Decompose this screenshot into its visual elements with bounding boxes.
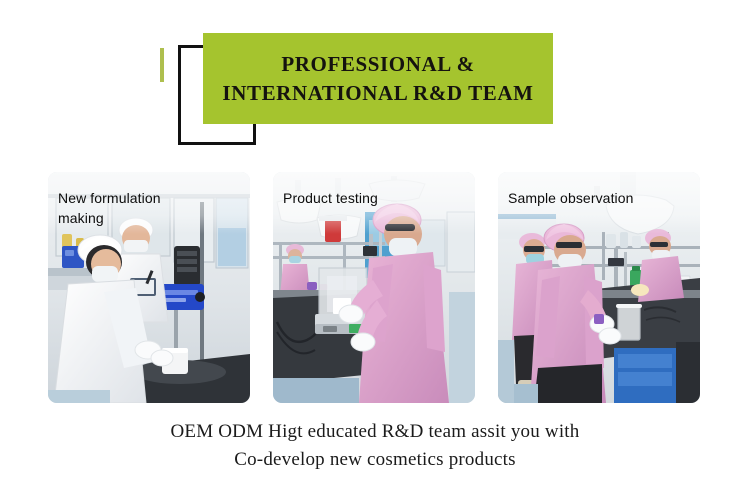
footer-caption: OEM ODM Higt educated R&D team assit you… [0, 418, 750, 474]
banner-header: PROFESSIONAL & INTERNATIONAL R&D TEAM [0, 0, 750, 160]
photo-panel-row: New formulation making [48, 172, 700, 403]
panel-label-line-1: New formulation [58, 188, 244, 208]
panel-label-line-2: making [58, 208, 244, 228]
panel-label-new-formulation: New formulation making [58, 188, 244, 229]
caption-line-2: Co-develop new cosmetics products [0, 446, 750, 474]
panel-label-product-testing: Product testing [283, 188, 469, 208]
panel-label-line-1: Product testing [283, 188, 469, 208]
page-title-line-2: INTERNATIONAL R&D TEAM [222, 79, 533, 107]
caption-line-1: OEM ODM Higt educated R&D team assit you… [0, 418, 750, 446]
accent-bar [160, 48, 164, 82]
panel-label-sample-observation: Sample observation [508, 188, 694, 208]
page-title-line-1: PROFESSIONAL & [281, 50, 474, 78]
photo-panel-sample-observation[interactable]: Sample observation [498, 172, 700, 403]
photo-panel-new-formulation[interactable]: New formulation making [48, 172, 250, 403]
photo-panel-product-testing[interactable]: Product testing [273, 172, 475, 403]
panel-label-line-1: Sample observation [508, 188, 694, 208]
title-box: PROFESSIONAL & INTERNATIONAL R&D TEAM [203, 33, 553, 124]
